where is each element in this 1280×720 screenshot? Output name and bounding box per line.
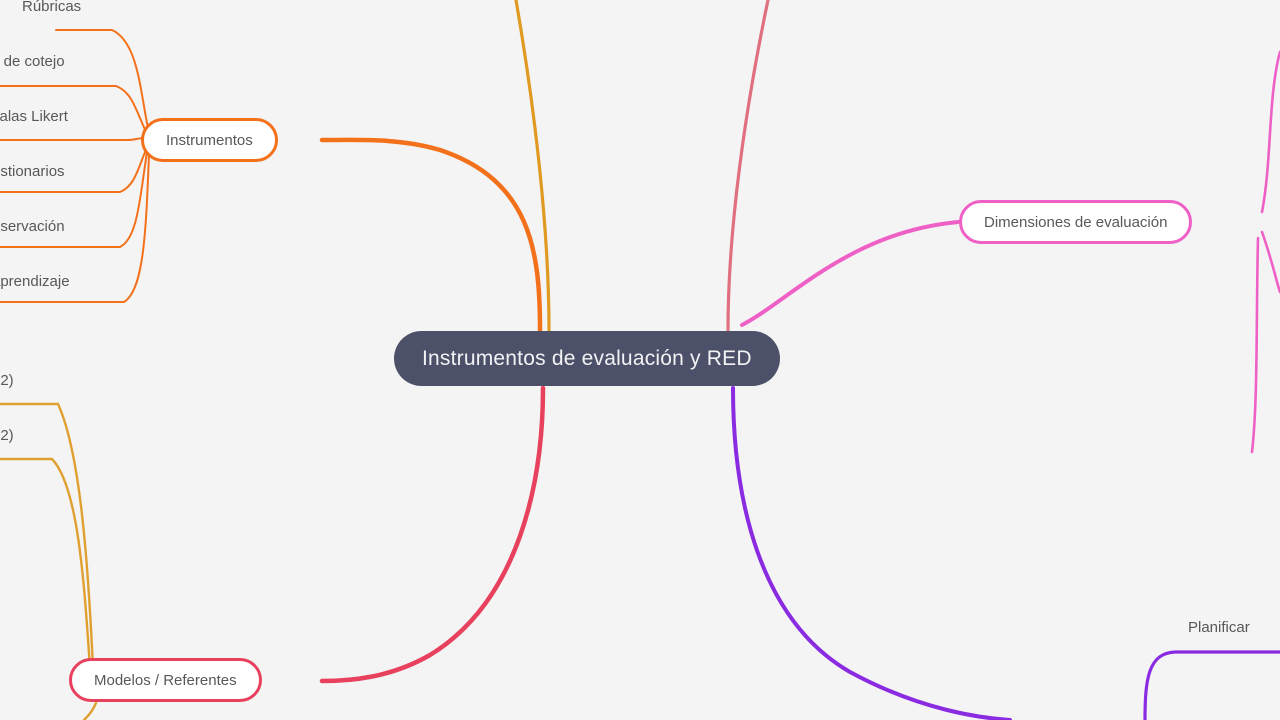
edge-root-salmon: [728, 0, 768, 330]
edge-planificar: [1145, 652, 1280, 720]
edge-dimensiones-leaf-1: [1262, 52, 1280, 212]
edge-modelos-leaf-1: [0, 404, 93, 668]
leaf-label-modelos-cita-2[interactable]: 12): [0, 427, 14, 444]
edge-instrumentos-leaf-1: [56, 30, 148, 128]
edge-root-purple: [733, 388, 1010, 720]
edge-root-modelos: [322, 388, 543, 681]
edge-instrumentos-leaf-3: [0, 138, 145, 140]
mindmap-canvas: Instrumentos de evaluación y RED Instrum…: [0, 0, 1280, 720]
edge-modelos-leaf-2: [0, 459, 90, 668]
leaf-label-cuestionarios[interactable]: estionarios: [0, 163, 65, 180]
root-node[interactable]: Instrumentos de evaluación y RED: [394, 331, 780, 386]
leaf-label-escalas-likert[interactable]: calas Likert: [0, 108, 68, 125]
branch-node-instrumentos[interactable]: Instrumentos: [141, 118, 278, 162]
edge-root-instrumentos: [322, 140, 540, 330]
edge-root-amber: [516, 0, 549, 330]
leaf-label-rubricas[interactable]: Rúbricas: [22, 0, 81, 15]
edge-modelos-leaf-3: [84, 703, 96, 720]
edge-dimensiones-leaf-2: [1262, 232, 1280, 292]
leaf-label-listas-de-cotejo[interactable]: s de cotejo: [0, 53, 65, 70]
leaf-label-modelos-cita-1[interactable]: 12): [0, 372, 14, 389]
edge-root-dimensiones: [742, 222, 958, 325]
leaf-label-observacion[interactable]: bservación: [0, 218, 65, 235]
edge-dimensiones-leaf-3: [1252, 238, 1258, 452]
branch-node-modelos[interactable]: Modelos / Referentes: [69, 658, 262, 702]
leaf-label-planificar[interactable]: Planificar: [1188, 619, 1250, 636]
branch-node-dimensiones[interactable]: Dimensiones de evaluación: [959, 200, 1192, 244]
leaf-label-diarios-aprendizaje[interactable]: aprendizaje: [0, 273, 70, 290]
